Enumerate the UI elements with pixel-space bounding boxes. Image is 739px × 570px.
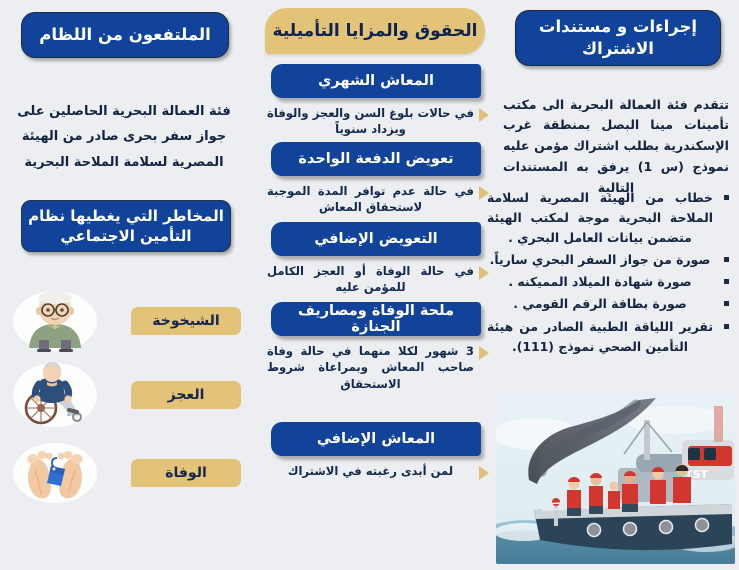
benefit-item-additional-compensation: التعويض الإضافي في حالة الوفاة أو العجز … [263, 222, 489, 296]
rights-column: الحقوق والمزايا التأميلية المعاش الشهري … [249, 0, 493, 570]
benefit-description: في حالة الوفاة أو العجز الكامل للمؤمن عل… [263, 263, 474, 296]
benefit-title[interactable]: المعاش الإضافي [271, 422, 481, 456]
caret-left-icon [479, 108, 489, 122]
list-item: صورة بطاقة الرقم القومي . [487, 294, 717, 314]
benefit-description-row: لمن أبدى رغبته في الاشتراك [263, 463, 489, 480]
beneficiaries-description: فئة العمالة البحرية الحاصلين على جواز سف… [7, 99, 241, 175]
risks-header: المخاطر التي يغطيها نظام التأمين الاجتما… [21, 200, 231, 252]
benefit-description-row: 3 شهور لكلا منهما في حالة وفاة صاحب المع… [263, 343, 489, 392]
toe-tag-feet-icon [9, 440, 101, 506]
benefit-title[interactable]: تعويض الدفعة الواحدة [271, 142, 481, 176]
caret-left-icon [479, 266, 489, 280]
elderly-person-icon [9, 288, 101, 354]
risk-badge[interactable]: الشيخوخة [131, 307, 241, 335]
caret-left-icon [479, 466, 489, 480]
list-item: خطاب من الهيئة المصرية لسلامة الملاحة ال… [487, 188, 717, 248]
ship-illustration: TST [496, 392, 735, 564]
beneficiaries-column: الملتفعون من اللظام فئة العمالة البحرية … [0, 0, 249, 570]
benefit-item-lump-sum: تعويض الدفعة الواحدة في حالة عدم توافر ا… [263, 142, 489, 216]
benefit-title[interactable]: ملحة الوفاة ومصاريف الجنازة [271, 302, 481, 336]
rights-header: الحقوق والمزايا التأميلية [265, 8, 485, 54]
list-item: تقرير اللياقة الطبية الصادر من هيئة التأ… [487, 317, 717, 357]
benefit-description: في حالة عدم توافر المدة الموجبة لاستحقاق… [263, 183, 474, 216]
benefit-description-row: في حالة الوفاة أو العجز الكامل للمؤمن عل… [263, 263, 489, 296]
benefit-description: 3 شهور لكلا منهما في حالة وفاة صاحب المع… [263, 343, 474, 392]
benefit-description-row: في حالات بلوغ السن والعجز والوفاة ويزداد… [263, 105, 489, 138]
benefit-item-death-grant: ملحة الوفاة ومصاريف الجنازة 3 شهور لكلا … [263, 302, 489, 392]
documents-intro-paragraph: تتقدم فئة العمالة البحرية الى مكتب تأمين… [503, 95, 729, 199]
ship-with-crew-icon: TST [496, 392, 735, 564]
beneficiaries-header: الملتفعون من اللظام [21, 12, 229, 58]
infographic-page: إجراءات و مستندات الاشتراك تتقدم فئة الع… [0, 0, 739, 570]
risk-row-disability: العجز [9, 362, 241, 428]
risk-badge[interactable]: الوفاة [131, 459, 241, 487]
benefit-title[interactable]: المعاش الشهري [271, 64, 481, 98]
caret-left-icon [479, 346, 489, 360]
risk-row-death: الوفاة [9, 440, 241, 506]
benefit-item-additional-pension: المعاش الإضافي لمن أبدى رغبته في الاشترا… [263, 422, 489, 480]
documents-column: إجراءات و مستندات الاشتراك تتقدم فئة الع… [493, 0, 739, 570]
benefit-description: لمن أبدى رغبته في الاشتراك [263, 463, 474, 479]
caret-left-icon [479, 186, 489, 200]
risk-row-old-age: الشيخوخة [9, 288, 241, 354]
documents-list: خطاب من الهيئة المصرية لسلامة الملاحة ال… [487, 188, 731, 359]
documents-header: إجراءات و مستندات الاشتراك [515, 10, 721, 66]
list-item: صورة شهادة الميلاد المميكنه . [487, 272, 717, 292]
list-item: صورة من جواز السفر البحري سارياً. [487, 250, 717, 270]
benefit-description: في حالات بلوغ السن والعجز والوفاة ويزداد… [263, 105, 474, 138]
risk-badge[interactable]: العجز [131, 381, 241, 409]
benefit-item-monthly-pension: المعاش الشهري في حالات بلوغ السن والعجز … [263, 64, 489, 138]
wheelchair-person-icon [9, 362, 101, 428]
benefit-title[interactable]: التعويض الإضافي [271, 222, 481, 256]
benefit-description-row: في حالة عدم توافر المدة الموجبة لاستحقاق… [263, 183, 489, 216]
